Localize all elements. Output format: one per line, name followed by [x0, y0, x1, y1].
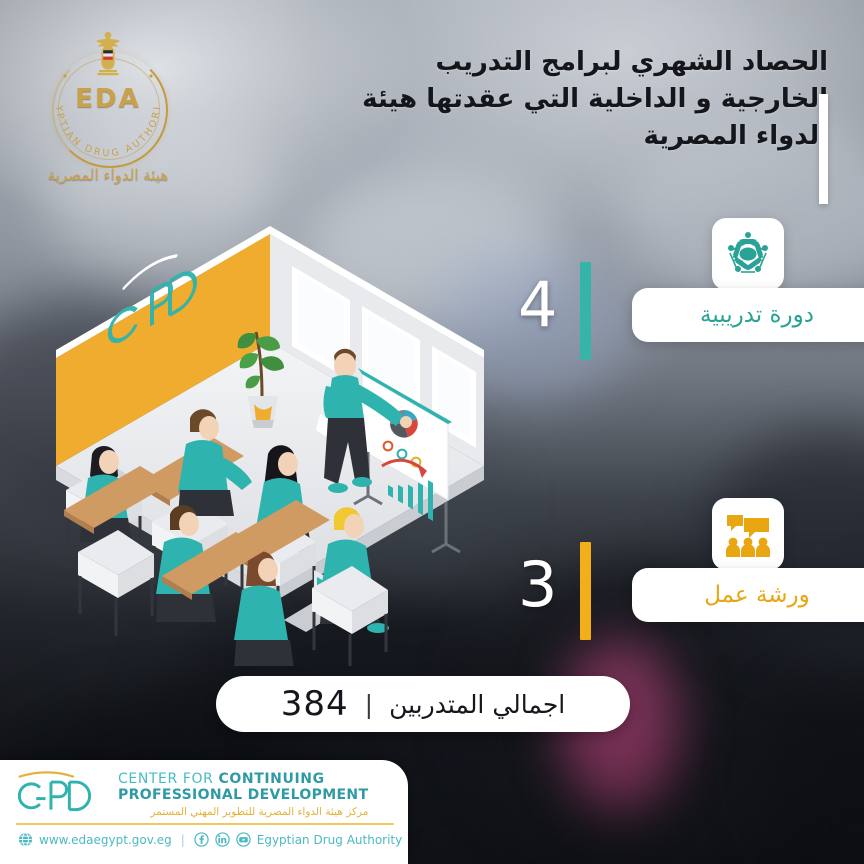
eagle-emblem-icon: [88, 30, 128, 76]
cpd-tagline-line2: PROFESSIONAL DEVELOPMENT: [118, 788, 368, 804]
workshop-discussion-icon-box: [712, 498, 784, 570]
footer-social-handle[interactable]: Egyptian Drug Authority: [257, 833, 402, 847]
cpd-tagline-line1: CENTER FOR CONTINUING: [118, 772, 368, 788]
footer-bar: CENTER FOR CONTINUING PROFESSIONAL DEVEL…: [0, 760, 408, 864]
stat-label-pill-workshops: ورشة عمل: [632, 568, 864, 622]
people-network-icon-box: [712, 218, 784, 290]
footer-website[interactable]: www.edaegypt.gov.eg: [39, 833, 172, 847]
stat-card-training-courses[interactable]: 4: [500, 230, 864, 360]
cpd-logo-icon: [16, 771, 108, 817]
stat-label-workshops: ورشة عمل: [704, 582, 810, 608]
total-separator: |: [365, 690, 373, 719]
title-line-2: الخارجية و الداخلية التي عقدتها هيئة: [358, 81, 828, 118]
cpd-tagline-light: CENTER FOR: [118, 771, 219, 787]
facebook-icon[interactable]: [194, 832, 209, 847]
linkedin-icon[interactable]: [215, 832, 230, 847]
eda-arabic-name: هيئة الدواء المصرية: [38, 166, 178, 184]
poster-title: الحصاد الشهري لبرامج التدريب الخارجية و …: [358, 44, 828, 155]
total-trainees-value: 384: [281, 684, 349, 724]
total-trainees-label: اجمالي المتدربين: [389, 690, 565, 719]
infographic-poster: EGYPTIAN DRUG AUTHORITY EDA هيئة الدواء …: [0, 0, 864, 864]
stat-card-workshops[interactable]: 3 ورشة عمل: [500, 510, 864, 640]
footer-separator: |: [181, 833, 185, 847]
eda-logo: EGYPTIAN DRUG AUTHORITY EDA هيئة الدواء …: [38, 28, 178, 178]
stat-value-workshops: 3: [518, 554, 557, 616]
cpd-tagline-arabic: مركز هيئة الدواء المصرية للتطوير المهني …: [118, 806, 368, 818]
stat-label-pill-training-courses: دورة تدريبية: [632, 288, 864, 342]
isometric-training-room-illustration: [44, 214, 496, 666]
title-line-1: الحصاد الشهري لبرامج التدريب: [358, 44, 828, 81]
eda-monogram: EDA: [38, 84, 178, 114]
globe-icon[interactable]: [18, 832, 33, 847]
total-trainees-bar: اجمالي المتدربين | 384: [216, 676, 630, 732]
stat-accent-bar-teal: [580, 262, 591, 360]
workshop-discussion-icon: [723, 509, 773, 559]
title-line-3: الدواء المصرية: [358, 118, 828, 155]
youtube-icon[interactable]: [236, 832, 251, 847]
stat-value-training-courses: 4: [518, 274, 557, 336]
stat-accent-bar-amber: [580, 542, 591, 640]
cpd-tagline-bold: CONTINUING: [219, 771, 325, 787]
title-accent-bar: [819, 94, 828, 204]
people-network-icon: [723, 229, 773, 279]
stat-label-training-courses: دورة تدريبية: [700, 302, 814, 328]
